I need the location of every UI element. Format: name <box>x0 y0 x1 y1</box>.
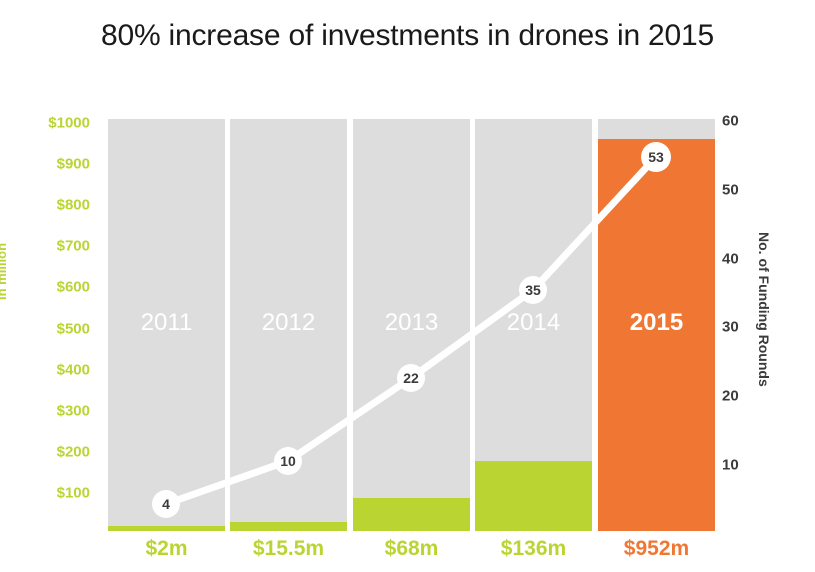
bar-value-label-2013: $68m <box>353 537 470 561</box>
plot-area: 2011 2012 2013 2014 2015 <box>108 119 714 531</box>
chart-title: 80% increase of investments in drones in… <box>0 16 815 56</box>
line-point-label-2014: 35 <box>525 282 541 298</box>
y-axis-right-tick: 10 <box>722 457 739 474</box>
bar-value-2013[interactable] <box>353 498 470 531</box>
y-axis-right-title: No. of Funding Rounds <box>756 232 772 387</box>
y-axis-left: $1000 $900 $800 $700 $600 $500 $400 $300… <box>0 119 100 531</box>
bar-group-2011[interactable]: 2011 <box>108 119 225 531</box>
line-point-label-2012: 10 <box>280 453 296 469</box>
bar-value-label-2011: $2m <box>108 537 225 561</box>
y-axis-right-tick: 40 <box>722 251 739 268</box>
bar-value-label-2014: $136m <box>475 537 592 561</box>
bar-value-label-2015: $952m <box>598 537 715 561</box>
y-axis-left-tick: $100 <box>57 485 90 502</box>
line-point-label-2015: 53 <box>648 149 664 165</box>
y-axis-left-tick: $400 <box>57 362 90 379</box>
bar-year-label: 2015 <box>598 309 715 337</box>
y-axis-left-title: In million <box>0 243 9 300</box>
bar-value-2012[interactable] <box>230 522 347 531</box>
y-axis-left-tick: $500 <box>57 321 90 338</box>
bar-group-2014[interactable]: 2014 <box>475 119 592 531</box>
y-axis-left-tick: $300 <box>57 403 90 420</box>
bar-group-2012[interactable]: 2012 <box>230 119 347 531</box>
y-axis-right-tick: 30 <box>722 319 739 336</box>
y-axis-right-tick: 20 <box>722 388 739 405</box>
y-axis-right-tick: 50 <box>722 182 739 199</box>
y-axis-right: 60 50 40 30 20 10 <box>722 119 782 531</box>
bar-value-label-2012: $15.5m <box>230 537 347 561</box>
bar-year-label: 2013 <box>353 309 470 337</box>
bar-group-2015[interactable]: 2015 <box>598 119 715 531</box>
y-axis-left-tick: $200 <box>57 444 90 461</box>
y-axis-left-tick: $600 <box>57 279 90 296</box>
bar-value-2014[interactable] <box>475 461 592 531</box>
bar-year-label: 2012 <box>230 309 347 337</box>
bar-group-2013[interactable]: 2013 <box>353 119 470 531</box>
y-axis-left-tick: $800 <box>57 197 90 214</box>
line-point-label-2013: 22 <box>403 370 419 386</box>
bar-value-2011[interactable] <box>108 526 225 531</box>
bar-value-labels: $2m $15.5m $68m $136m $952m <box>108 537 714 571</box>
line-point-label-2011: 4 <box>162 496 170 512</box>
chart-root: 80% increase of investments in drones in… <box>0 0 815 572</box>
y-axis-right-tick: 60 <box>722 113 739 130</box>
bar-year-label: 2014 <box>475 309 592 337</box>
y-axis-left-tick: $900 <box>57 156 90 173</box>
bar-year-label: 2011 <box>108 309 225 337</box>
y-axis-left-tick: $700 <box>57 238 90 255</box>
y-axis-left-tick: $1000 <box>48 115 90 132</box>
